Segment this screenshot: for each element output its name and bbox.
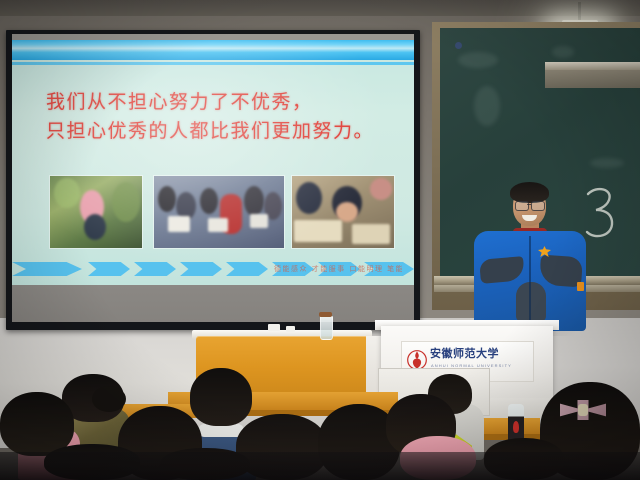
classroom-photo: 我们从不担心努力了不优秀， 只担心优秀的人都比我们更加努力。 (0, 0, 640, 480)
glasses-bridge-icon (527, 204, 531, 205)
projected-slide: 我们从不担心努力了不优秀， 只担心优秀的人都比我们更加努力。 (12, 40, 414, 285)
bottle-label-icon (513, 421, 519, 433)
blackboard-shelf (545, 62, 640, 70)
screen-blank-area (12, 285, 414, 322)
student-bun (92, 386, 126, 412)
jacket-panel-center (516, 282, 546, 322)
glasses-left-lens-icon (515, 201, 529, 211)
hair-bow-knot (578, 404, 588, 416)
desk-item-box (268, 324, 280, 331)
student-head (190, 368, 252, 426)
podium-university-name: 安徽师范大学 (430, 347, 499, 361)
desk-item-small (286, 326, 295, 332)
slide-projection-glare (12, 40, 414, 285)
jacket-zipper (529, 236, 531, 328)
ceiling-strip (0, 0, 640, 16)
glasses-right-lens-icon (531, 201, 545, 211)
jacket-tag-icon (577, 282, 584, 291)
screen-surface: 我们从不担心努力了不优秀， 只担心优秀的人都比我们更加努力。 (12, 34, 414, 322)
water-glass-lid-icon (319, 312, 332, 317)
water-glass (320, 316, 333, 340)
blackboard-shelf-face (545, 70, 640, 88)
foreground-shadow (0, 452, 640, 480)
blackboard-magnet-icon (455, 42, 462, 49)
speaker-hair (510, 182, 549, 203)
